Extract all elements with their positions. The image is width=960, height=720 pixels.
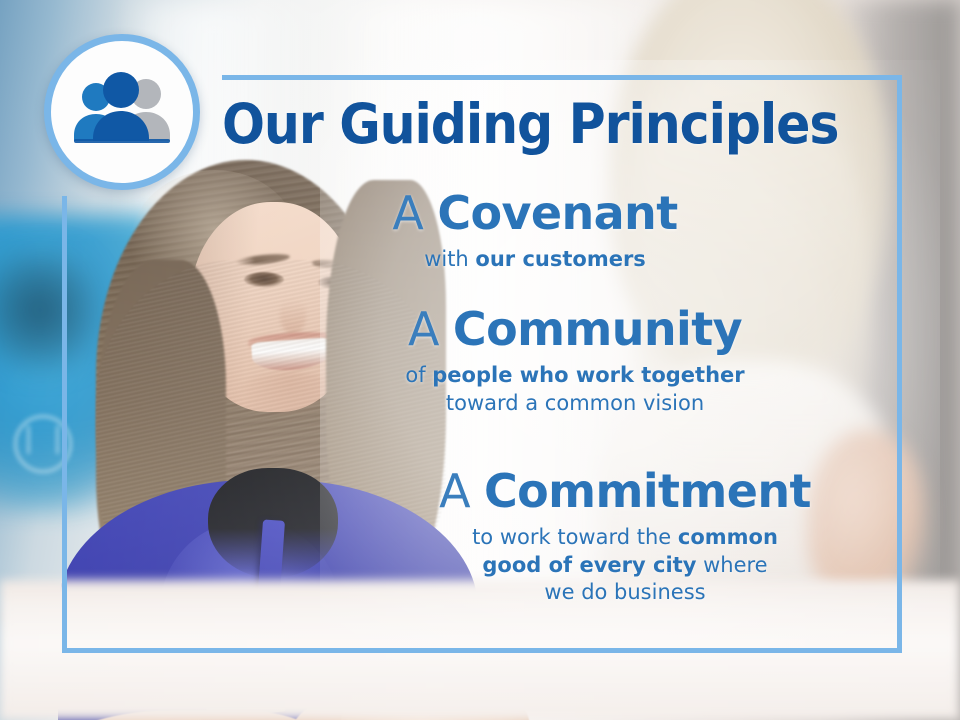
principle-body-community: of people who work togethertoward a comm… (340, 362, 810, 417)
frame-border-top (222, 75, 902, 80)
principle-article: A (408, 302, 439, 356)
people-group-icon (68, 71, 176, 153)
frame-border-left (62, 196, 67, 653)
principle-block-commitment: A Commitment to work toward the commongo… (380, 464, 870, 607)
guiding-principles-graphic: FLOW FLOW O (0, 0, 960, 720)
principle-body-covenant: with our customers (300, 246, 770, 274)
principle-heading-covenant: A Covenant (300, 186, 770, 240)
page-title: Our Guiding Principles (222, 92, 838, 156)
principle-word: Commitment (484, 464, 811, 518)
principle-article: A (392, 186, 423, 240)
frame-border-bottom (62, 648, 902, 653)
principle-article: A (439, 464, 470, 518)
principle-heading-commitment: A Commitment (380, 464, 870, 518)
principle-word: Community (453, 302, 742, 356)
principle-heading-community: A Community (340, 302, 810, 356)
principle-word: Covenant (437, 186, 677, 240)
principle-body-commitment: to work toward the commongood of every c… (380, 524, 870, 607)
principle-block-covenant: A Covenant with our customers (300, 186, 770, 274)
principle-body-line: to work toward the common (380, 524, 870, 552)
frame-border-right (897, 75, 902, 653)
principle-block-community: A Community of people who work togethert… (340, 302, 810, 417)
principle-body-line: toward a common vision (340, 390, 810, 418)
principle-body-line: of people who work together (340, 362, 810, 390)
principle-body-line: with our customers (300, 246, 770, 274)
principle-body-line: we do business (380, 579, 870, 607)
principle-body-line: good of every city where (380, 552, 870, 580)
people-group-badge (44, 34, 200, 190)
